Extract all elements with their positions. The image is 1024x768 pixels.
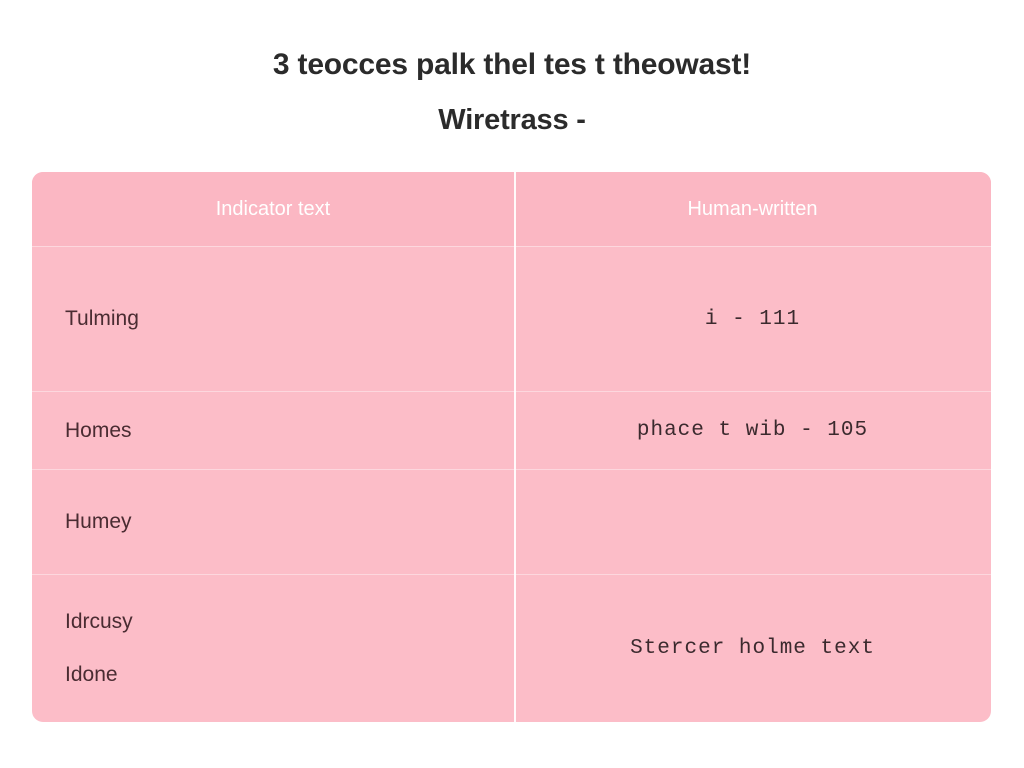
cell-indicator-text: Homes bbox=[32, 392, 514, 469]
cell-indicator-text: Humey bbox=[32, 470, 514, 574]
table-row: Idrcusy Idone Stercer holme text bbox=[32, 575, 991, 722]
table-body: Tulming i - 111 Homes phace t wib - 105 … bbox=[32, 247, 991, 722]
comparison-table: Indicator text Human-written Tulming i -… bbox=[32, 172, 991, 722]
cell-indicator-text-line-2: Idone bbox=[65, 663, 118, 687]
page-title-line-2: Wiretrass - bbox=[0, 101, 1024, 139]
table-header-row: Indicator text Human-written bbox=[32, 172, 991, 247]
table-row: Homes phace t wib - 105 bbox=[32, 392, 991, 470]
page-title-line-1: 3 teocces palk thel tes t theowast! bbox=[0, 46, 1024, 84]
table-row: Tulming i - 111 bbox=[32, 247, 991, 392]
cell-indicator-text: Tulming bbox=[32, 247, 514, 391]
cell-human-written: Stercer holme text bbox=[514, 575, 991, 722]
column-header-human-written[interactable]: Human-written bbox=[514, 172, 991, 247]
page-title: 3 teocces palk thel tes t theowast! Wire… bbox=[0, 46, 1024, 139]
cell-human-written: phace t wib - 105 bbox=[514, 392, 991, 469]
column-header-indicator-text[interactable]: Indicator text bbox=[32, 172, 514, 247]
table-row: Humey bbox=[32, 470, 991, 575]
cell-indicator-text-line-1: Idrcusy bbox=[65, 610, 133, 634]
cell-human-written bbox=[514, 470, 991, 574]
page-root: 3 teocces palk thel tes t theowast! Wire… bbox=[0, 0, 1024, 768]
cell-indicator-text: Idrcusy Idone bbox=[32, 575, 514, 722]
cell-human-written: i - 111 bbox=[514, 247, 991, 391]
column-divider bbox=[514, 172, 516, 722]
